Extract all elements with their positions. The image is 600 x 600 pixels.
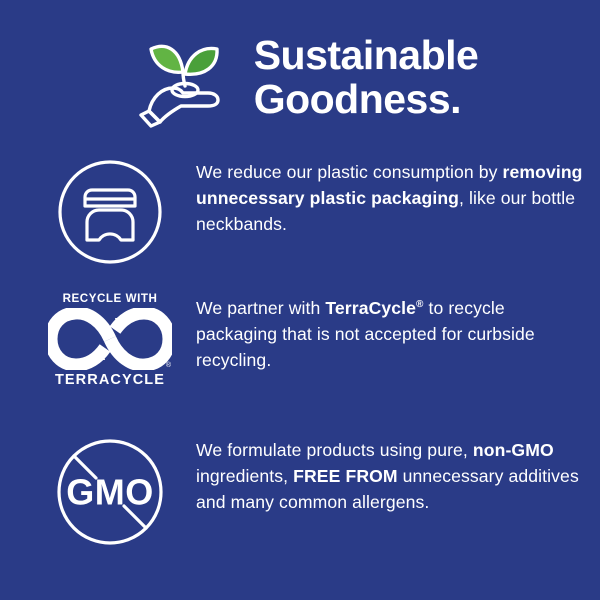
no-gmo-icon: GMO — [52, 434, 168, 550]
row-icon-container — [46, 152, 174, 268]
terracycle-top-label: RECYCLE WITH — [63, 292, 158, 305]
page-title: Sustainable Goodness. — [254, 34, 479, 122]
feature-text-non-gmo: We formulate products using pure, non-GM… — [174, 430, 586, 516]
terracycle-logo: RECYCLE WITH ® TERRACYCLE — [46, 292, 174, 388]
row-icon-container: RECYCLE WITH ® TERRACYCLE — [46, 288, 174, 388]
feature-rows: We reduce our plastic consumption by rem… — [0, 152, 600, 558]
sustainable-goodness-poster: Sustainable Goodness. — [0, 0, 600, 600]
feature-row-non-gmo: GMO We formulate products using pure, no… — [0, 430, 600, 558]
header: Sustainable Goodness. — [0, 0, 600, 130]
terracycle-wordmark: TERRACYCLE — [55, 372, 165, 388]
terracycle-infinity-mark: ® — [48, 308, 172, 370]
bottle-in-circle-icon — [54, 156, 166, 268]
row-icon-container: GMO — [46, 430, 174, 550]
title-line-1: Sustainable — [254, 34, 479, 78]
registered-mark: ® — [166, 362, 171, 369]
feature-row-terracycle: RECYCLE WITH ® TERRACYCLE — [0, 288, 600, 416]
feature-row-plastic-reduction: We reduce our plastic consumption by rem… — [0, 152, 600, 280]
gmo-label: GMO — [66, 472, 154, 513]
feature-text-terracycle: We partner with TerraCycle® to recycle p… — [174, 288, 586, 374]
hand-holding-sprout-icon — [132, 26, 236, 130]
title-line-2: Goodness. — [254, 78, 479, 122]
feature-text-plastic-reduction: We reduce our plastic consumption by rem… — [174, 152, 586, 238]
